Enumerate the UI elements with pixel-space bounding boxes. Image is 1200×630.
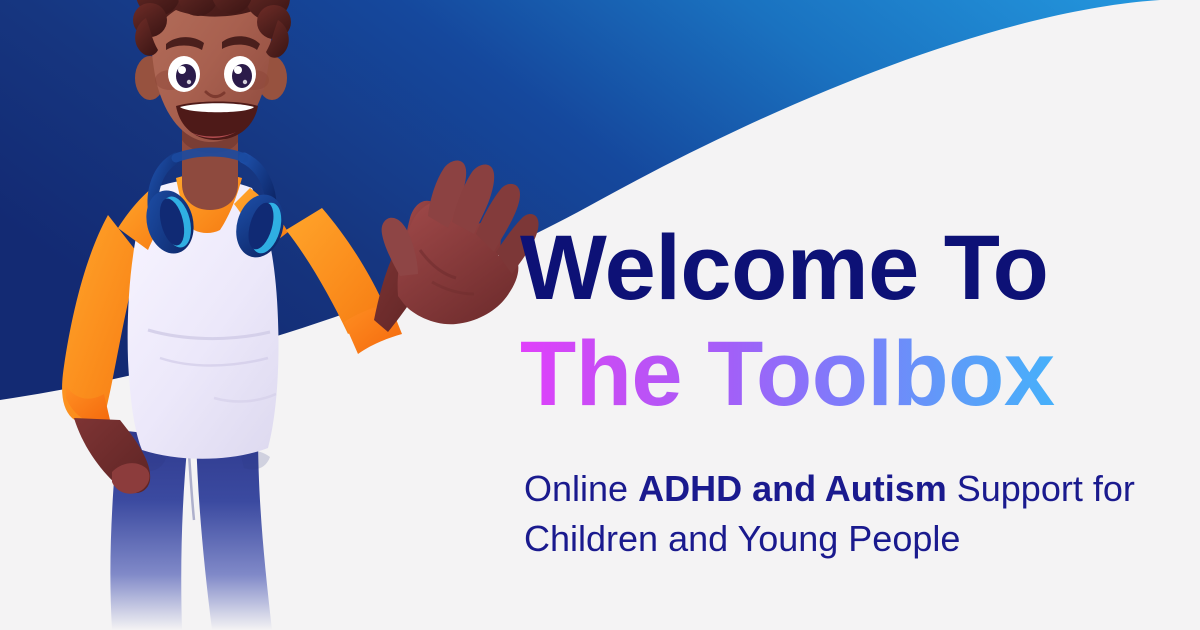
subheading-prefix: Online [524,468,638,509]
waving-hand [382,161,539,325]
headline-block: Welcome To The Toolbox Online ADHD and A… [520,222,1200,563]
subheading: Online ADHD and Autism Support for Child… [524,464,1200,563]
subheading-bold: ADHD and Autism [638,468,947,509]
headline-line-1: Welcome To [520,222,1200,314]
welcome-banner: Welcome To The Toolbox Online ADHD and A… [0,0,1200,630]
boy-illustration [0,0,560,630]
headline-line-2: The Toolbox [520,328,1200,420]
